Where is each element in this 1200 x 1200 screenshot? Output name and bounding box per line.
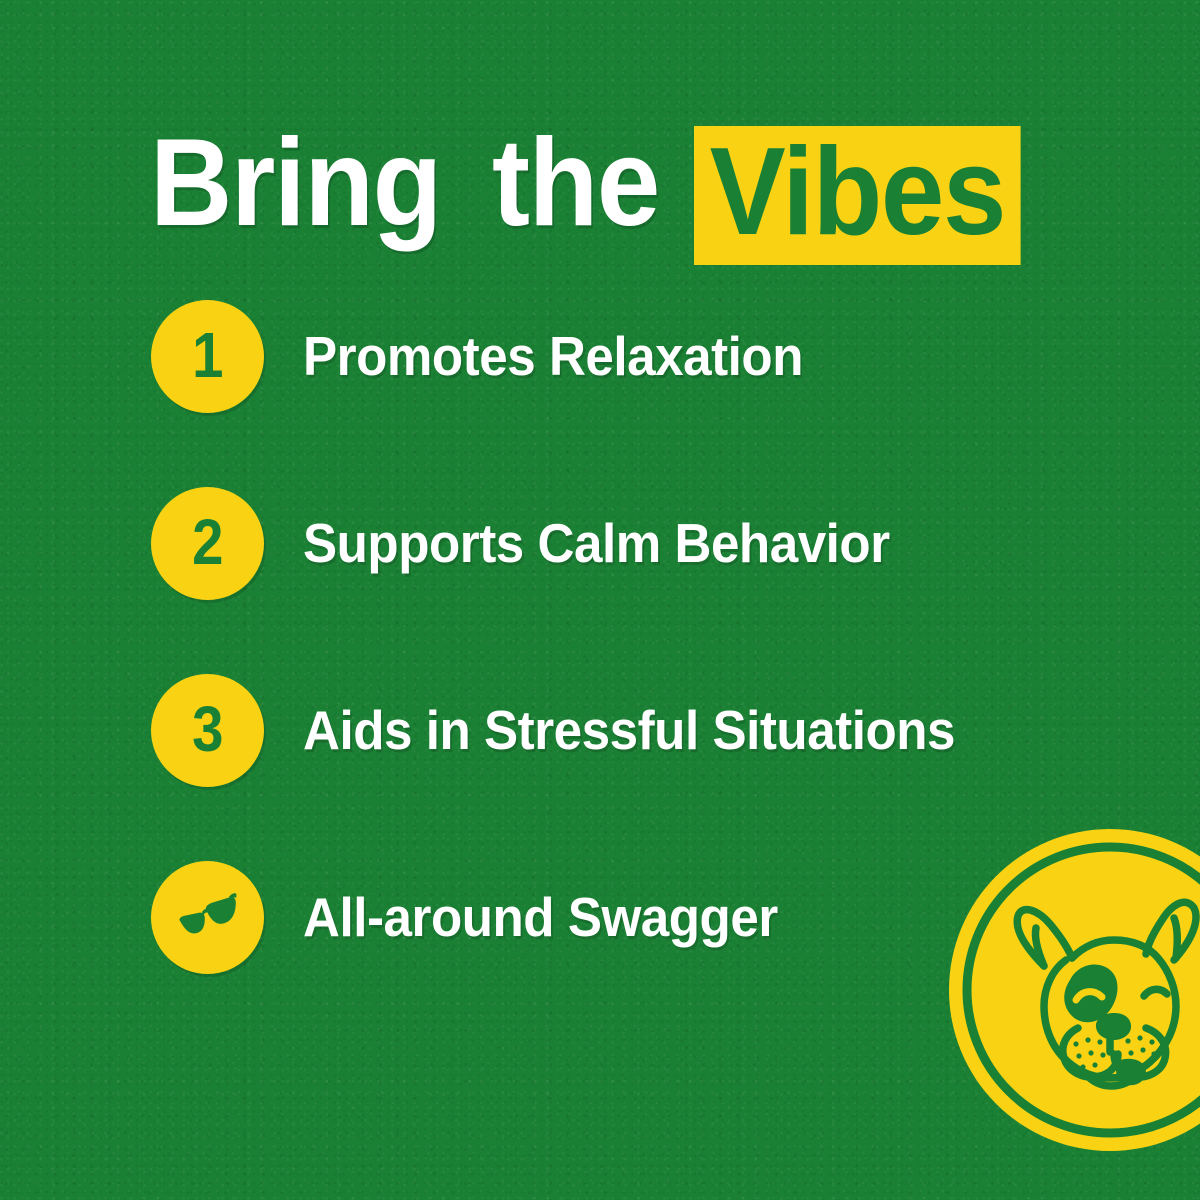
sunglasses-icon <box>169 879 247 957</box>
list-item: 2 Supports Calm Behavior <box>0 487 1200 600</box>
benefit-number-2: 2 <box>192 510 222 578</box>
benefit-badge-4 <box>151 861 264 974</box>
benefit-number-3: 3 <box>192 697 222 765</box>
list-item: All-around Swagger <box>0 861 1200 974</box>
benefit-label-2: Supports Calm Behavior <box>303 516 890 571</box>
benefit-badge-2: 2 <box>151 487 264 600</box>
benefit-badge-1: 1 <box>151 300 264 413</box>
headline-highlight-vibes: Vibes <box>694 126 1021 265</box>
benefit-label-3: Aids in Stressful Situations <box>303 703 955 758</box>
benefit-label-4: All-around Swagger <box>303 890 778 945</box>
benefit-label-1: Promotes Relaxation <box>303 329 803 384</box>
benefit-number-1: 1 <box>192 323 222 391</box>
benefit-badge-3: 3 <box>151 674 264 787</box>
page-title: Bring the Vibes <box>150 126 1049 265</box>
list-item: 1 Promotes Relaxation <box>0 300 1200 413</box>
promo-poster: Bring the Vibes 1 Promotes Relaxation 2 … <box>0 0 1200 1200</box>
headline-word-the: the <box>492 126 659 241</box>
headline-word-bring: Bring <box>150 126 441 241</box>
list-item: 3 Aids in Stressful Situations <box>0 674 1200 787</box>
benefits-list: 1 Promotes Relaxation 2 Supports Calm Be… <box>0 300 1200 1048</box>
